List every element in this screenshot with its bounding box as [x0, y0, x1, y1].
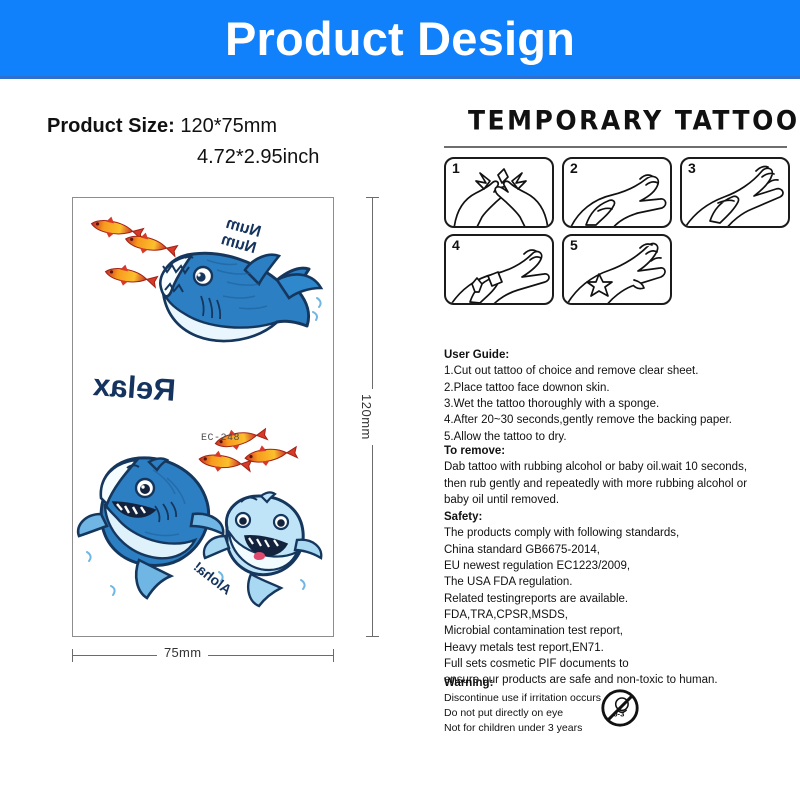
user-guide-line: 1.Cut out tattoo of choice and remove cl…: [444, 363, 796, 379]
application-steps: 1 2: [444, 157, 794, 305]
instructions-panel: TEMPORARY TATTOO 1 2: [440, 79, 800, 800]
safety-line: China standard GB6675-2014,: [444, 542, 796, 558]
user-guide-line: 3.Wet the tattoo thoroughly with a spong…: [444, 396, 796, 412]
step-panel-5: 5: [562, 234, 672, 305]
safety-line: Full sets cosmetic PIF documents to: [444, 656, 796, 672]
hand-removing-paper-icon: [446, 236, 554, 305]
to-remove-line: then rub gently and repeatedly with more…: [444, 476, 796, 492]
hands-peeling-backing-icon: [446, 159, 554, 228]
height-dimension-label: 120mm: [359, 389, 374, 445]
sheet-word-relax: Relax: [92, 367, 177, 409]
step-panel-2: 2: [562, 157, 672, 228]
warning-block: Warning: Discontinue use if irritation o…: [444, 675, 796, 735]
step-number-4: 4: [452, 237, 460, 253]
product-size-value: 120*75mm: [180, 115, 277, 137]
user-guide-line: 4.After 20~30 seconds,gently remove the …: [444, 412, 796, 428]
step-number-5: 5: [570, 237, 578, 253]
safety-line: Microbial contamination test report,: [444, 623, 796, 639]
to-remove-line: Dab tattoo with rubbing alcohol or baby …: [444, 459, 796, 475]
title-underline: [444, 146, 787, 148]
product-code: EC-248: [201, 433, 240, 444]
page-banner: Product Design: [0, 0, 800, 79]
safety-block: Safety: The products comply with followi…: [444, 509, 796, 689]
safety-line: Related testingreports are available.: [444, 591, 796, 607]
step-panel-3: 3: [680, 157, 790, 228]
safety-line: FDA,TRA,CPSR,MSDS,: [444, 607, 796, 623]
step-number-3: 3: [688, 160, 696, 176]
product-size-panel: Product Size: 120*75mm 4.72*2.95inch: [0, 79, 420, 800]
product-size-inch: 4.72*2.95inch: [197, 146, 319, 169]
step-number-2: 2: [570, 160, 578, 176]
temporary-tattoo-title: TEMPORARY TATTOO: [468, 105, 800, 136]
step-panel-4: 4: [444, 234, 554, 305]
to-remove-block: To remove: Dab tattoo with rubbing alcoh…: [444, 443, 796, 508]
user-guide-heading: User Guide:: [444, 347, 796, 363]
tattoo-sheet-preview: Relax Num Num Aloha! EC-248: [72, 197, 334, 637]
width-dimension-label: 75mm: [157, 645, 208, 660]
no-children-under-3-icon: 0-3: [599, 687, 641, 729]
to-remove-line: baby oil until removed.: [444, 492, 796, 508]
step-number-1: 1: [452, 160, 460, 176]
hand-placing-tattoo-icon: [564, 159, 672, 228]
safety-line: Heavy metals test report,EN71.: [444, 640, 796, 656]
product-design-page: Product Design Product Size: 120*75mm 4.…: [0, 0, 800, 800]
safety-line: The products comply with following stand…: [444, 525, 796, 541]
page-title: Product Design: [225, 15, 575, 62]
hand-with-star-tattoo-icon: [564, 236, 672, 305]
hand-wetting-sponge-icon: [682, 159, 790, 228]
user-guide-block: User Guide: 1.Cut out tattoo of choice a…: [444, 347, 796, 445]
product-size-line: Product Size: 120*75mm: [47, 115, 277, 138]
safety-heading: Safety:: [444, 509, 796, 525]
safety-line: EU newest regulation EC1223/2009,: [444, 558, 796, 574]
step-panel-1: 1: [444, 157, 554, 228]
product-size-label: Product Size:: [47, 115, 175, 137]
to-remove-heading: To remove:: [444, 443, 796, 459]
user-guide-line: 2.Place tattoo face downon skin.: [444, 380, 796, 396]
safety-line: The USA FDA regulation.: [444, 574, 796, 590]
